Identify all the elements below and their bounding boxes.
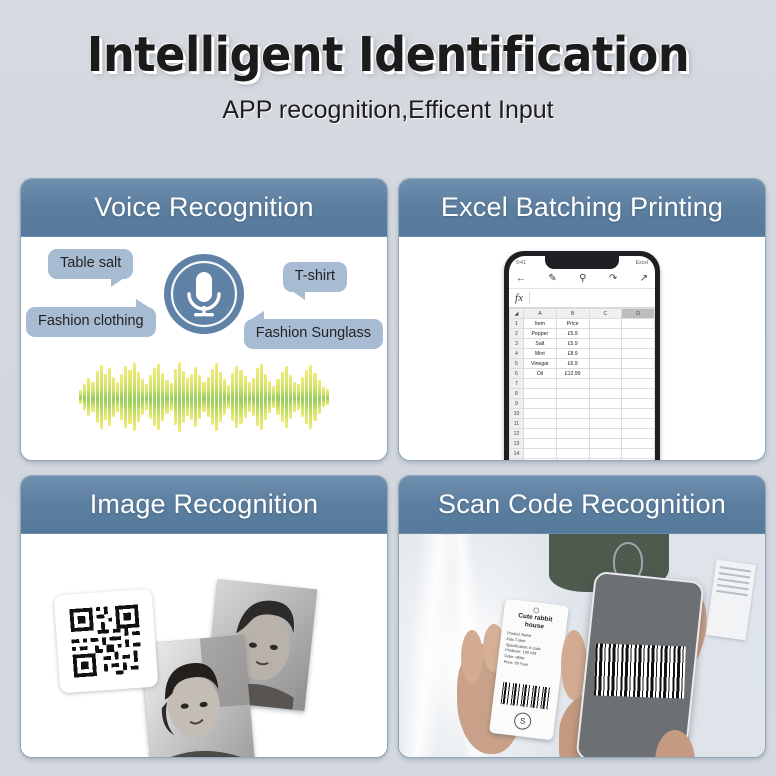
status-app-name: Excel: [636, 260, 648, 266]
panel-image-header: Image Recognition: [21, 476, 387, 534]
waveform-bar: [219, 372, 222, 422]
panel-scan-code-recognition[interactable]: Scan Code Recognition: [398, 475, 766, 758]
speech-bubble-table-salt: Table salt: [48, 249, 133, 279]
table-cell[interactable]: £6.9: [556, 359, 589, 369]
panel-scan-title: Scan Code Recognition: [438, 489, 726, 520]
waveform-bar: [124, 366, 127, 428]
table-cell[interactable]: Vinegar: [524, 359, 557, 369]
waveform-bar: [120, 374, 123, 420]
table-row[interactable]: 11: [510, 419, 655, 429]
table-cell[interactable]: [622, 459, 655, 461]
background-tag: [706, 560, 756, 641]
panel-voice-recognition[interactable]: Voice Recognition Table salt T-shirt Fas…: [20, 178, 388, 461]
waveform-bar: [182, 371, 185, 423]
waveform-bar: [297, 384, 300, 410]
panel-image-recognition[interactable]: Image Recognition: [20, 475, 388, 758]
bg-tag-line: [717, 584, 749, 590]
select-all-icon[interactable]: ◢: [510, 309, 524, 319]
barcode-icon: [594, 643, 686, 698]
row-header[interactable]: 15: [510, 459, 524, 461]
table-cell[interactable]: [524, 449, 557, 459]
bg-tag-line: [716, 590, 748, 596]
table-cell[interactable]: [589, 359, 622, 369]
table-cell[interactable]: [589, 439, 622, 449]
table-cell[interactable]: [622, 389, 655, 399]
waveform-bar: [211, 369, 214, 425]
waveform-bar: [190, 374, 193, 420]
waveform-bar: [318, 380, 321, 414]
table-cell[interactable]: [622, 449, 655, 459]
waveform-bar: [244, 376, 247, 418]
panel-image-title: Image Recognition: [90, 489, 319, 520]
table-cell[interactable]: [589, 399, 622, 409]
tag-lines: Product Name Kids T-shirt Specification:…: [503, 631, 559, 671]
waveform-bar: [174, 369, 177, 425]
tag-title: Cute rabbit house: [508, 611, 562, 633]
feature-panel-grid: Voice Recognition Table salt T-shirt Fas…: [20, 178, 756, 758]
table-row[interactable]: 1ItemPrice: [510, 319, 655, 329]
panel-excel-body: 9:41 Excel ← ✎ ⚲ ↷ ↗ fx: [399, 237, 765, 460]
table-cell[interactable]: [524, 379, 557, 389]
waveform-bar: [215, 363, 218, 431]
waveform-bar: [141, 379, 144, 415]
panel-voice-header: Voice Recognition: [21, 179, 387, 237]
waveform-bar: [133, 363, 136, 431]
table-cell[interactable]: [589, 349, 622, 359]
panel-scan-body: Cute rabbit house Product Name Kids T-sh…: [399, 534, 765, 757]
column-header-b[interactable]: B: [556, 309, 589, 319]
waveform-bar: [256, 368, 259, 426]
table-cell[interactable]: [589, 409, 622, 419]
waveform-bar: [79, 390, 82, 404]
table-row[interactable]: 3Salt£5.9: [510, 339, 655, 349]
waveform-bar: [145, 384, 148, 410]
table-cell[interactable]: [556, 449, 589, 459]
table-row[interactable]: 13: [510, 439, 655, 449]
table-cell[interactable]: Pepper: [524, 329, 557, 339]
table-cell[interactable]: [524, 439, 557, 449]
table-cell[interactable]: [589, 459, 622, 461]
waveform-bar: [116, 382, 119, 412]
table-cell[interactable]: [622, 439, 655, 449]
waveform-bar: [202, 382, 205, 412]
table-row[interactable]: 4Mint£8.9: [510, 349, 655, 359]
table-row[interactable]: 14: [510, 449, 655, 459]
portrait-photo-left: [140, 635, 256, 757]
bg-tag-line: [718, 572, 750, 578]
scan-code-photo: Cute rabbit house Product Name Kids T-sh…: [399, 534, 765, 757]
table-cell[interactable]: [622, 379, 655, 389]
page-header: Intelligent Identification APP recogniti…: [0, 0, 776, 125]
column-header-d[interactable]: D: [622, 309, 655, 319]
waveform-bar: [301, 377, 304, 417]
phone-notch: [545, 256, 619, 269]
waveform-bar: [281, 372, 284, 422]
row-header[interactable]: 8: [510, 389, 524, 399]
row-header[interactable]: 13: [510, 439, 524, 449]
waveform-bar: [161, 373, 164, 421]
waveform-bar: [289, 375, 292, 419]
table-cell[interactable]: [589, 369, 622, 379]
waveform-bar: [165, 380, 168, 414]
waveform-bar: [268, 381, 271, 413]
table-cell[interactable]: [556, 459, 589, 461]
panel-voice-body: Table salt T-shirt Fashion clothing Fash…: [21, 237, 387, 460]
table-row[interactable]: 2Pepper£5.9: [510, 329, 655, 339]
table-cell[interactable]: [524, 399, 557, 409]
table-cell[interactable]: [556, 419, 589, 429]
microphone-icon[interactable]: [163, 253, 245, 335]
table-cell[interactable]: [622, 339, 655, 349]
phone-screen: 9:41 Excel ← ✎ ⚲ ↷ ↗ fx: [509, 256, 655, 460]
table-cell[interactable]: [524, 459, 557, 461]
row-header[interactable]: 3: [510, 339, 524, 349]
waveform-bar: [100, 365, 103, 429]
table-cell[interactable]: [622, 319, 655, 329]
panel-voice-title: Voice Recognition: [94, 192, 314, 223]
spreadsheet-column-headers: ◢ A B C D: [510, 309, 655, 319]
table-cell[interactable]: Mint: [524, 349, 557, 359]
speech-bubble-fashion-clothing: Fashion clothing: [26, 307, 156, 337]
tag-barcode-icon: [501, 682, 551, 710]
row-header[interactable]: 4: [510, 349, 524, 359]
table-cell[interactable]: [589, 379, 622, 389]
table-cell[interactable]: [622, 429, 655, 439]
waveform-bar: [235, 366, 238, 428]
page-root: Intelligent Identification APP recogniti…: [0, 0, 776, 776]
waveform-bar: [91, 382, 94, 412]
waveform-bar: [178, 362, 181, 432]
waveform-bar: [260, 364, 263, 430]
waveform-bar: [128, 370, 131, 424]
table-cell[interactable]: [622, 419, 655, 429]
table-cell[interactable]: Oil: [524, 369, 557, 379]
table-cell[interactable]: [524, 389, 557, 399]
table-cell[interactable]: £8.9: [556, 349, 589, 359]
waveform-bar: [326, 389, 329, 405]
table-cell[interactable]: [556, 379, 589, 389]
waveform-bar: [227, 385, 230, 409]
excel-toolbar[interactable]: ← ✎ ⚲ ↷ ↗: [509, 270, 655, 289]
waveform-bar: [264, 374, 267, 420]
waveform-bar: [108, 368, 111, 426]
table-cell[interactable]: [589, 329, 622, 339]
waveform-bar: [157, 364, 160, 430]
panel-image-body: [21, 534, 387, 757]
column-header-c[interactable]: C: [589, 309, 622, 319]
table-cell[interactable]: £5.9: [556, 329, 589, 339]
waveform-bar: [239, 370, 242, 424]
table-cell[interactable]: [622, 349, 655, 359]
table-cell[interactable]: Salt: [524, 339, 557, 349]
row-header[interactable]: 5: [510, 359, 524, 369]
spreadsheet-rows: 1ItemPrice2Pepper£5.93Salt£5.94Mint£8.95…: [510, 319, 655, 461]
column-header-a[interactable]: A: [524, 309, 557, 319]
waveform-bar: [207, 377, 210, 417]
scanning-phone: [575, 571, 704, 757]
waveform-bar: [198, 375, 201, 419]
waveform-bar: [87, 378, 90, 416]
table-row[interactable]: 12: [510, 429, 655, 439]
waveform-bar: [170, 383, 173, 411]
table-cell[interactable]: [622, 409, 655, 419]
waveform-bar: [112, 377, 115, 417]
table-cell[interactable]: [556, 429, 589, 439]
speech-bubble-t-shirt: T-shirt: [283, 262, 347, 292]
waveform-bar: [186, 378, 189, 416]
table-cell[interactable]: [589, 339, 622, 349]
table-row[interactable]: 15: [510, 459, 655, 461]
audio-waveform: [79, 358, 329, 436]
waveform-bar: [305, 370, 308, 424]
formula-bar[interactable]: fx: [509, 289, 655, 308]
tag-hole: [533, 607, 540, 614]
waveform-bar: [293, 382, 296, 412]
row-header[interactable]: 1: [510, 319, 524, 329]
waveform-bar: [223, 379, 226, 415]
waveform-bar: [248, 382, 251, 412]
table-cell[interactable]: Item: [524, 319, 557, 329]
phone-mockup: 9:41 Excel ← ✎ ⚲ ↷ ↗ fx: [504, 251, 660, 460]
table-row[interactable]: 6Oil£12.99: [510, 369, 655, 379]
table-cell[interactable]: [524, 429, 557, 439]
waveform-bar: [153, 368, 156, 426]
table-cell[interactable]: [622, 399, 655, 409]
table-cell[interactable]: [556, 399, 589, 409]
search-icon[interactable]: ⚲: [579, 274, 586, 284]
share-icon[interactable]: ↗: [640, 274, 648, 284]
waveform-bar: [104, 374, 107, 420]
waveform-bar: [149, 375, 152, 419]
table-row[interactable]: 7: [510, 379, 655, 389]
panel-excel-header: Excel Batching Printing: [399, 179, 765, 237]
row-header[interactable]: 14: [510, 449, 524, 459]
table-cell[interactable]: £5.9: [556, 339, 589, 349]
row-header[interactable]: 2: [510, 329, 524, 339]
tag-size-mark: S: [513, 712, 532, 731]
table-cell[interactable]: £12.99: [556, 369, 589, 379]
table-cell[interactable]: [589, 449, 622, 459]
table-cell[interactable]: Price: [556, 319, 589, 329]
table-cell[interactable]: [589, 419, 622, 429]
waveform-bar: [272, 386, 275, 408]
row-header[interactable]: 12: [510, 429, 524, 439]
qr-code-icon: [54, 589, 159, 694]
speech-bubble-fashion-sunglass: Fashion Sunglass: [244, 319, 383, 349]
row-header[interactable]: 9: [510, 399, 524, 409]
table-cell[interactable]: [524, 419, 557, 429]
table-cell[interactable]: [524, 409, 557, 419]
panel-scan-header: Scan Code Recognition: [399, 476, 765, 534]
table-cell[interactable]: [589, 389, 622, 399]
row-header[interactable]: 6: [510, 369, 524, 379]
formula-fx-label: fx: [509, 292, 530, 304]
table-row[interactable]: 10: [510, 409, 655, 419]
waveform-bar: [313, 373, 316, 421]
table-cell[interactable]: [556, 389, 589, 399]
waveform-bar: [137, 372, 140, 422]
table-cell[interactable]: [622, 329, 655, 339]
waveform-bar: [83, 384, 86, 410]
undo-icon[interactable]: ↷: [609, 274, 617, 284]
table-cell[interactable]: [622, 359, 655, 369]
waveform-bar: [252, 378, 255, 416]
waveform-bar: [96, 371, 99, 423]
table-row[interactable]: 5Vinegar£6.9: [510, 359, 655, 369]
table-cell[interactable]: [622, 369, 655, 379]
row-header[interactable]: 7: [510, 379, 524, 389]
product-tag: Cute rabbit house Product Name Kids T-sh…: [489, 599, 569, 741]
waveform-bar: [276, 379, 279, 415]
bg-tag-line: [718, 578, 750, 584]
back-arrow-icon[interactable]: ←: [516, 274, 526, 284]
pen-icon[interactable]: ✎: [548, 274, 556, 284]
finger: [461, 630, 483, 684]
status-time: 9:41: [516, 260, 526, 266]
waveform-bar: [285, 366, 288, 428]
waveform-bar: [309, 365, 312, 429]
waveform-bar: [322, 387, 325, 407]
row-header[interactable]: 11: [510, 419, 524, 429]
table-row[interactable]: 9: [510, 399, 655, 409]
page-title: Intelligent Identification: [27, 30, 749, 80]
spreadsheet[interactable]: ◢ A B C D 1ItemPrice2Pepper£5.93Salt£5.9…: [509, 308, 655, 460]
row-header[interactable]: 10: [510, 409, 524, 419]
table-row[interactable]: 8: [510, 389, 655, 399]
table-cell[interactable]: [589, 429, 622, 439]
table-cell[interactable]: [589, 319, 622, 329]
table-cell[interactable]: [556, 439, 589, 449]
waveform-bar: [194, 367, 197, 427]
bg-tag-line: [719, 566, 751, 572]
page-subtitle: APP recognition,Efficent Input: [0, 96, 776, 125]
panel-excel-title: Excel Batching Printing: [441, 192, 723, 223]
panel-excel-batching-printing[interactable]: Excel Batching Printing 9:41 Excel ← ✎ ⚲: [398, 178, 766, 461]
waveform-bar: [231, 373, 234, 421]
table-cell[interactable]: [556, 409, 589, 419]
